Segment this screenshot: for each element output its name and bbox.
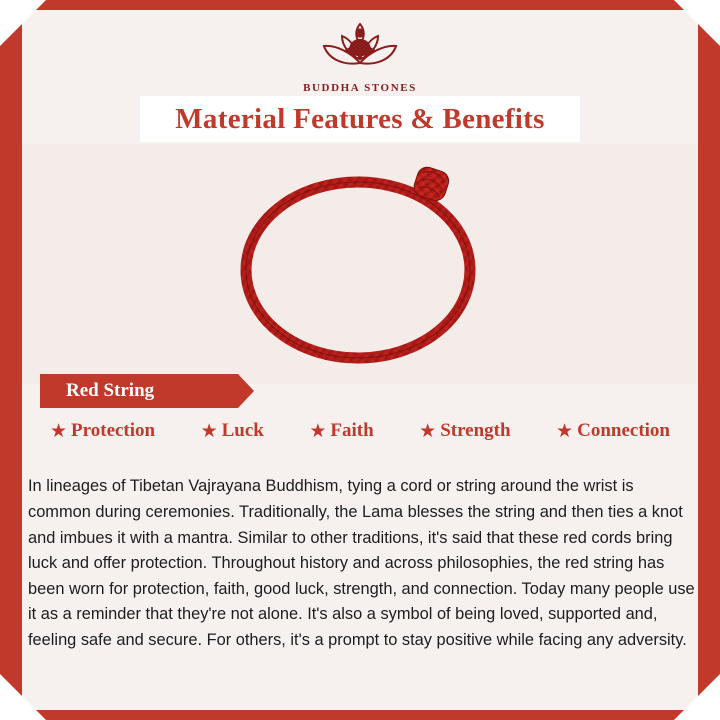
benefit-item: ★ Strength (419, 420, 510, 442)
star-icon: ★ (556, 422, 573, 441)
benefit-label: Strength (440, 420, 510, 442)
product-image-area (22, 144, 698, 384)
content-layer: BUDDHA STONES Material Features & Benefi… (0, 0, 720, 720)
benefit-label: Protection (71, 420, 155, 442)
benefit-label: Connection (577, 420, 670, 442)
benefit-item: ★ Faith (309, 420, 373, 442)
description-text: In lineages of Tibetan Vajrayana Buddhis… (28, 474, 698, 653)
star-icon: ★ (419, 422, 436, 441)
title-banner: Material Features & Benefits (140, 96, 580, 142)
brand-name: BUDDHA STONES (0, 82, 720, 94)
benefit-item: ★ Connection (556, 420, 670, 442)
red-string-bracelet-image (210, 160, 510, 370)
star-icon: ★ (50, 422, 67, 441)
benefit-label: Faith (330, 420, 373, 442)
benefits-row: ★ Protection ★ Luck ★ Faith ★ Strength ★… (36, 420, 684, 442)
infographic-page: BUDDHA STONES Material Features & Benefi… (0, 0, 720, 720)
benefit-label: Luck (222, 420, 264, 442)
lotus-meditation-icon (308, 16, 412, 78)
product-label: Red String (66, 380, 154, 402)
brand-logo: BUDDHA STONES (0, 16, 720, 94)
page-title: Material Features & Benefits (175, 103, 544, 136)
benefit-item: ★ Protection (50, 420, 155, 442)
star-icon: ★ (309, 422, 326, 441)
product-label-tab: Red String (40, 374, 238, 408)
star-icon: ★ (201, 422, 218, 441)
benefit-item: ★ Luck (201, 420, 264, 442)
